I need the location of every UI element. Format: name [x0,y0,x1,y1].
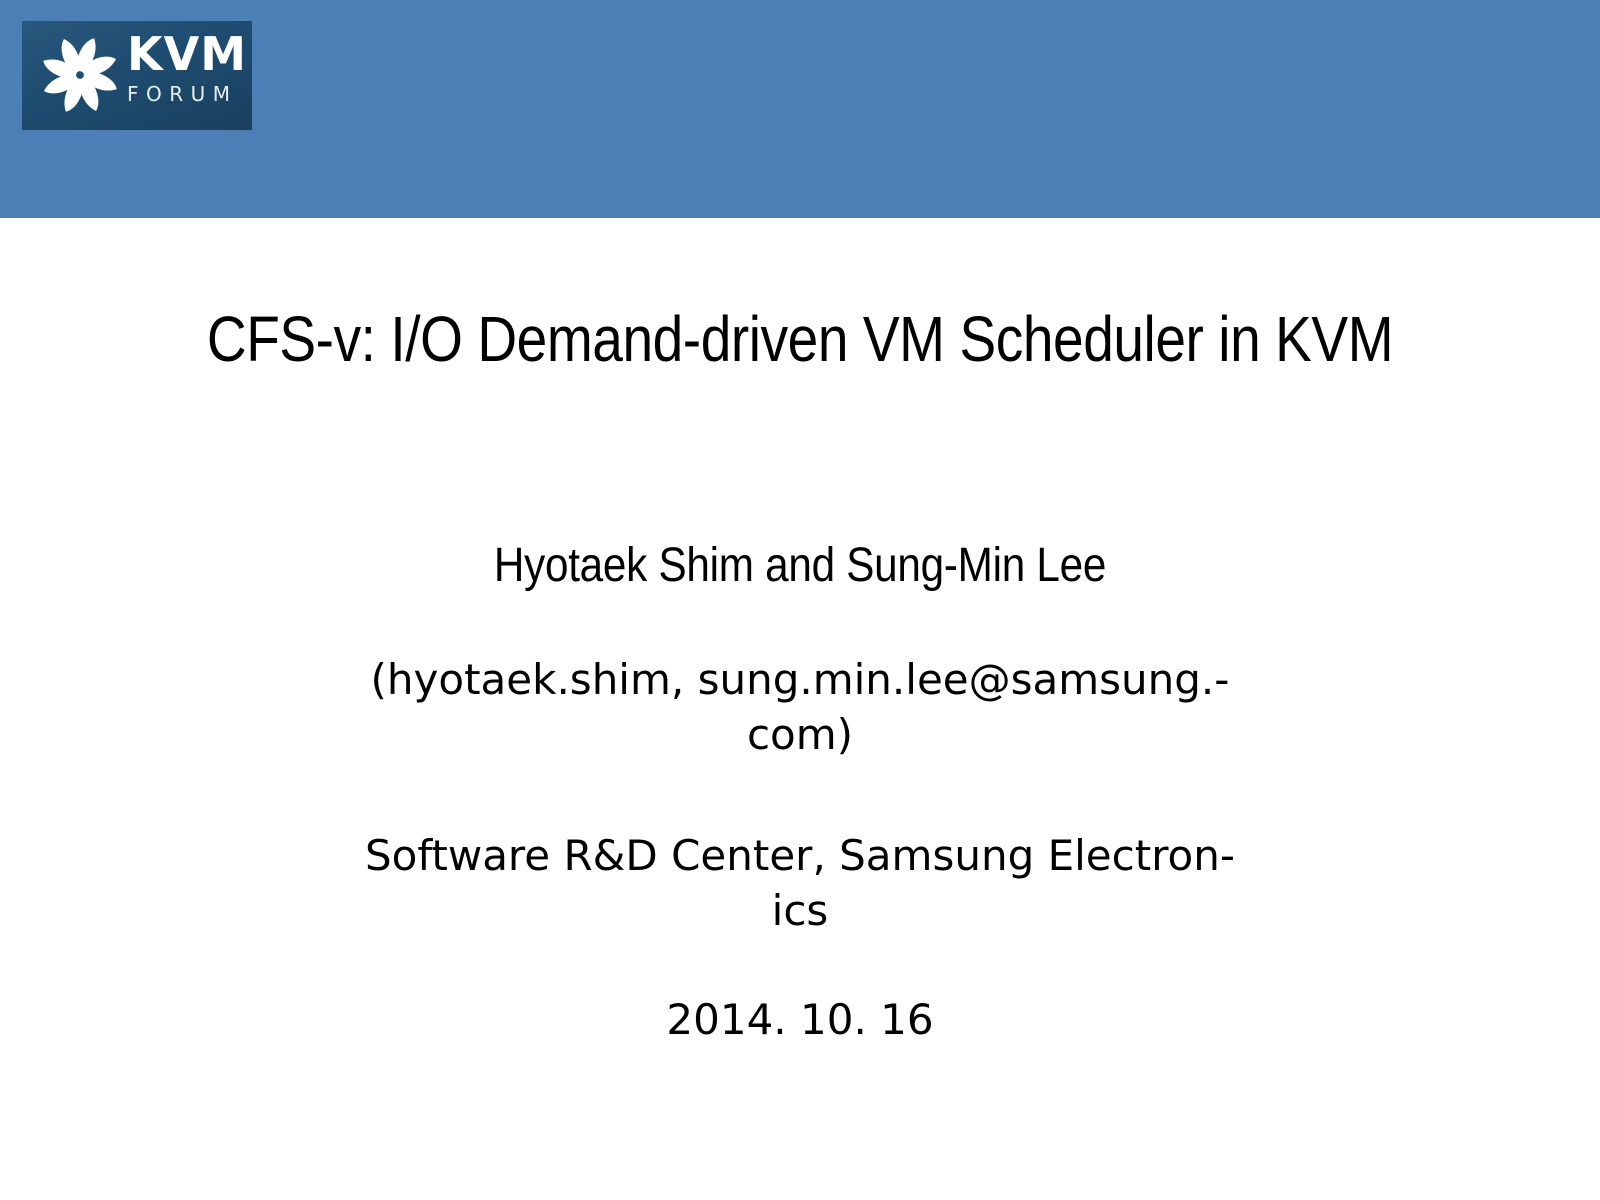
email-line-1: (hyotaek.shim, sung.min.lee@samsung.- [290,652,1310,707]
spacer-after-affiliation [290,938,1310,992]
authors-line: Hyotaek Shim and Sung-Min Lee [351,538,1249,594]
slide-header-band: KVM FORUM [0,0,1600,218]
spacer-after-authors [290,594,1310,652]
slide-subtitle-block: Hyotaek Shim and Sung-Min Lee (hyotaek.s… [290,538,1310,1047]
presentation-date: 2014. 10. 16 [290,992,1310,1047]
spacer-after-email [290,762,1310,828]
affiliation-line-2: ics [290,883,1310,938]
email-line-2: com) [290,707,1310,762]
pinwheel-icon [30,25,130,125]
logo-forum-text: FORUM [127,81,249,107]
kvm-forum-logo: KVM FORUM [22,21,252,130]
contact-email-block: (hyotaek.shim, sung.min.lee@samsung.- co… [290,652,1310,762]
affiliation-line-1: Software R&D Center, Samsung Electron- [290,828,1310,883]
page-title: CFS-v: I/O Demand-driven VM Scheduler in… [146,302,1453,376]
affiliation-block: Software R&D Center, Samsung Electron- i… [290,828,1310,938]
slide-content: CFS-v: I/O Demand-driven VM Scheduler in… [0,218,1600,1200]
logo-kvm-text: KVM [127,29,249,79]
